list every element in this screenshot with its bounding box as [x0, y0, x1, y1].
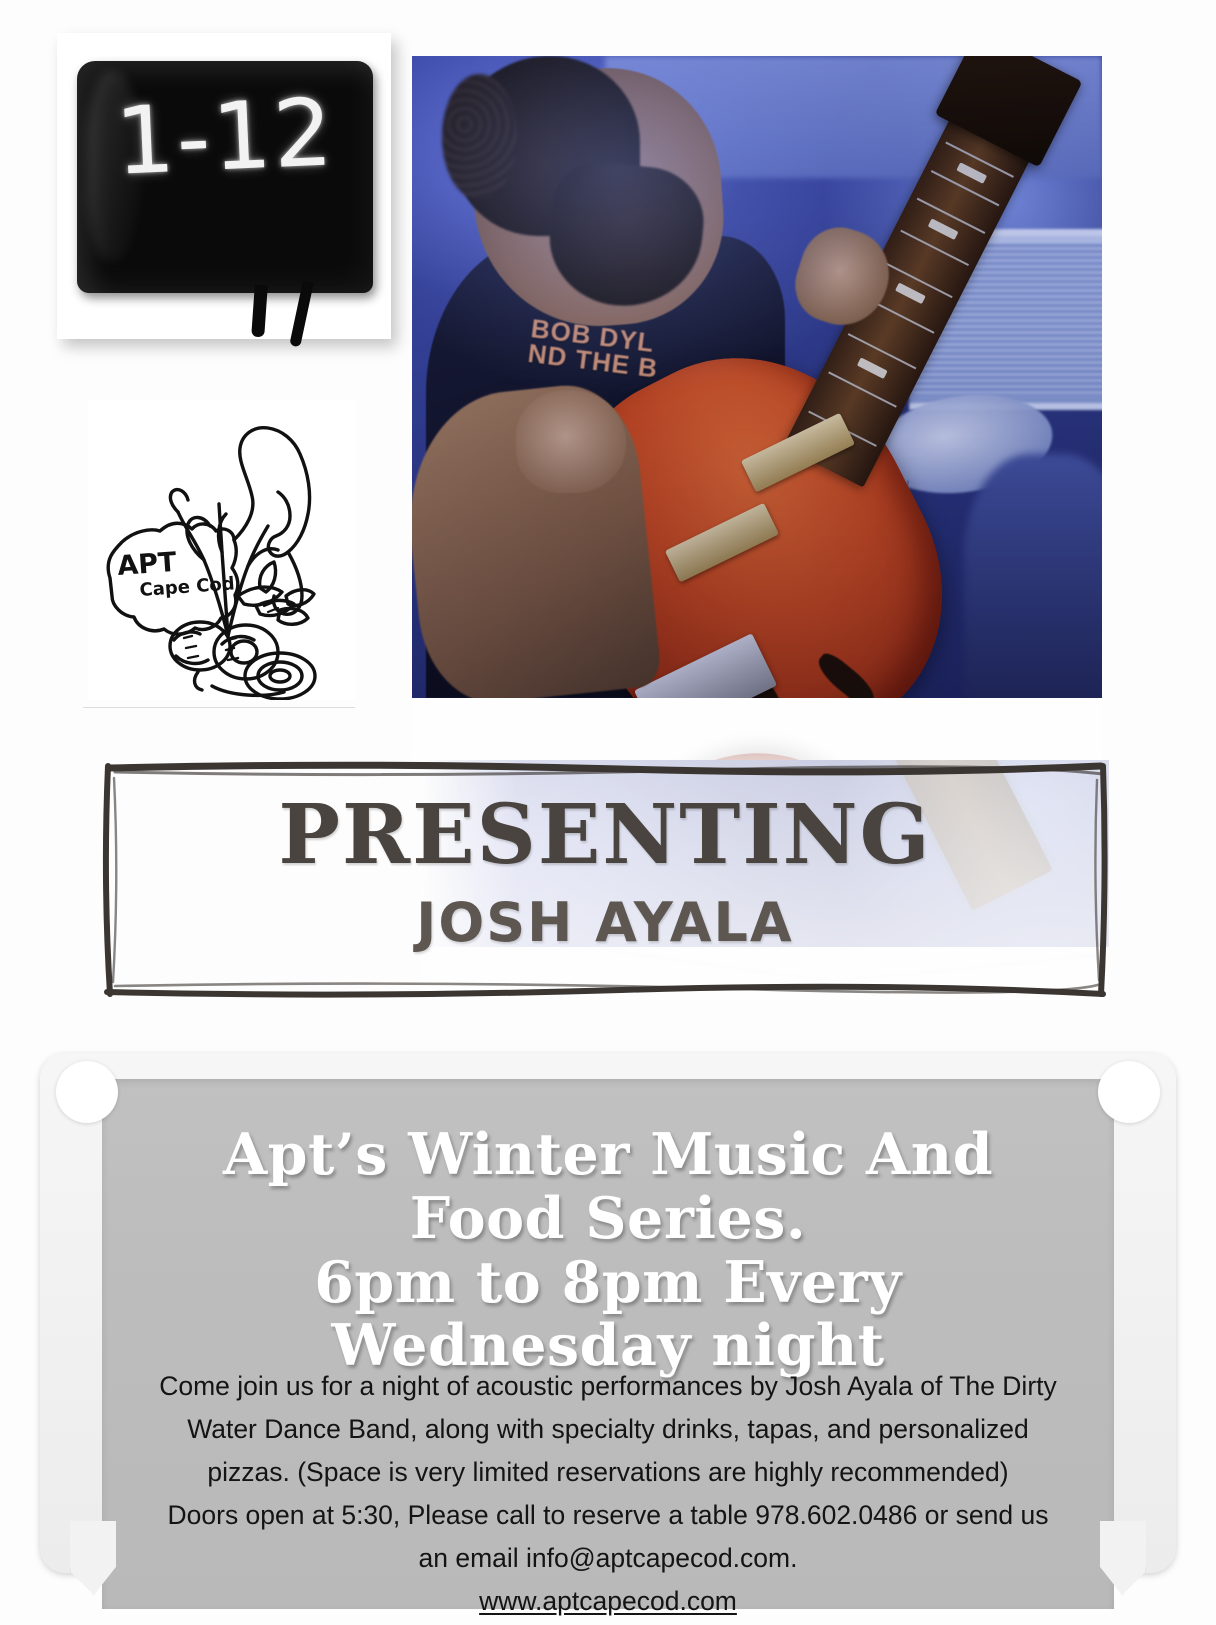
body-line-4: Doors open at 5:30, Please call to reser…	[168, 1500, 1049, 1530]
banner-body-text: Come join us for a night of acoustic per…	[124, 1365, 1092, 1623]
svg-text:APT: APT	[116, 547, 178, 582]
chalkboard-leg-left	[251, 285, 268, 338]
artist-name: JOSH AYALA	[101, 896, 1109, 950]
chalkboard-icon: 1-12	[77, 61, 373, 293]
body-line-3: pizzas. (Space is very limited reservati…	[207, 1457, 1008, 1487]
body-line-5: an email info@aptcapecod.com.	[419, 1543, 798, 1573]
apt-cape-cod-logo: APT Cape Cod	[88, 400, 356, 700]
banner-headline: Apt’s Winter Music And Food Series. 6pm …	[102, 1123, 1114, 1378]
info-banner: Apt’s Winter Music And Food Series. 6pm …	[40, 1035, 1176, 1595]
presenting-box: PRESENTING JOSH AYALA	[101, 760, 1109, 1000]
chalkboard-card: 1-12	[57, 33, 391, 339]
body-line-2: Water Dance Band, along with specialty d…	[187, 1414, 1029, 1444]
page-title: PRESENTING	[101, 794, 1109, 876]
body-line-1: Come join us for a night of acoustic per…	[159, 1371, 1057, 1401]
artist-photo: BOB DYL ND THE B	[412, 56, 1102, 698]
poster-root: 1-12 APT Cape Cod	[0, 0, 1216, 1625]
logo-divider	[83, 707, 355, 708]
website-link[interactable]: www.aptcapecod.com	[479, 1580, 737, 1623]
event-date-chalk: 1-12	[75, 85, 375, 191]
